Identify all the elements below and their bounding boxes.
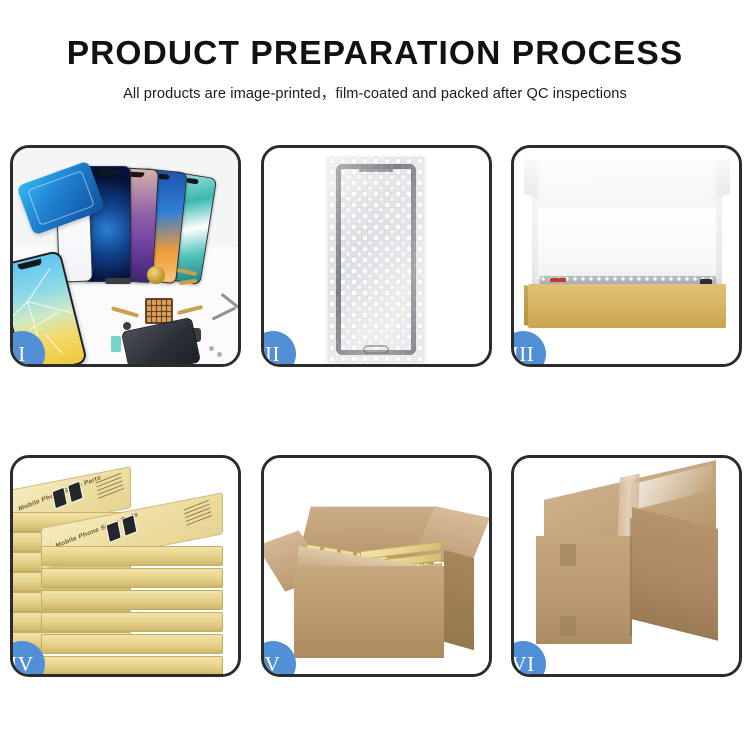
process-step-5: V — [261, 455, 492, 677]
step-3-image: III — [514, 148, 739, 364]
notch-icon — [158, 174, 170, 180]
product-preparation-infographic: PRODUCT PREPARATION PROCESS All products… — [0, 0, 750, 750]
header: PRODUCT PREPARATION PROCESS All products… — [0, 0, 750, 103]
flex-cable-2-icon — [179, 279, 197, 285]
carton-tab-upper — [560, 544, 576, 566]
flex-cable-1-icon — [177, 268, 197, 276]
step-badge-6: VI — [514, 641, 546, 674]
box-screen-graphics — [105, 514, 137, 543]
process-step-3: III — [511, 145, 742, 367]
box-spec-lines — [184, 499, 213, 527]
step-6-image: VI — [514, 458, 739, 674]
process-step-6: VI — [511, 455, 742, 677]
step-1-image: I — [13, 148, 238, 364]
step-4-image: Mobile Phone Spare Parts Mobile Pho — [13, 458, 238, 674]
stacked-box — [41, 612, 223, 632]
box-front-panel — [528, 284, 726, 328]
carton-tab-lower — [560, 616, 576, 636]
battery-part-icon — [111, 336, 121, 352]
button-part-icon — [123, 322, 131, 330]
step-badge-5: V — [264, 641, 296, 674]
chip-array-icon — [145, 298, 173, 324]
film-sheen — [328, 157, 424, 361]
page-title: PRODUCT PREPARATION PROCESS — [0, 36, 750, 71]
screw-part-icon — [209, 346, 214, 351]
carton-front-panel — [294, 566, 444, 658]
process-step-2: II — [261, 145, 492, 367]
vibrator-motor-icon — [147, 266, 165, 284]
bubble-wrapped-screen-icon — [328, 157, 424, 361]
page-subtitle: All products are image-printed，film-coat… — [0, 82, 750, 103]
step-badge-2: II — [264, 331, 296, 364]
stacked-box — [41, 656, 223, 674]
carton-front-panel — [536, 536, 632, 644]
carton-edge-seam — [630, 518, 632, 636]
step-2-image: II — [264, 148, 489, 364]
process-step-grid: I II — [10, 145, 742, 690]
process-step-1: I — [10, 145, 241, 367]
notch-icon — [97, 170, 116, 175]
box-screen-graphics — [52, 481, 84, 510]
speaker-part-icon — [105, 278, 131, 284]
stacked-box — [41, 568, 223, 588]
notch-icon — [186, 178, 199, 185]
stacked-box — [41, 634, 223, 654]
foam-lining — [538, 208, 716, 286]
red-label — [550, 278, 566, 282]
flex-cable-4-icon — [177, 305, 203, 315]
carton-side-panel — [444, 550, 474, 651]
stacked-box — [41, 590, 223, 610]
flex-cable-3-icon — [111, 306, 139, 318]
step-5-image: V — [264, 458, 489, 674]
screw-part-icon — [217, 352, 222, 357]
stacked-box — [41, 546, 223, 566]
carton-right-panel — [632, 507, 718, 640]
process-step-4: Mobile Phone Spare Parts Mobile Pho — [10, 455, 241, 677]
step-badge-3: III — [514, 331, 546, 364]
